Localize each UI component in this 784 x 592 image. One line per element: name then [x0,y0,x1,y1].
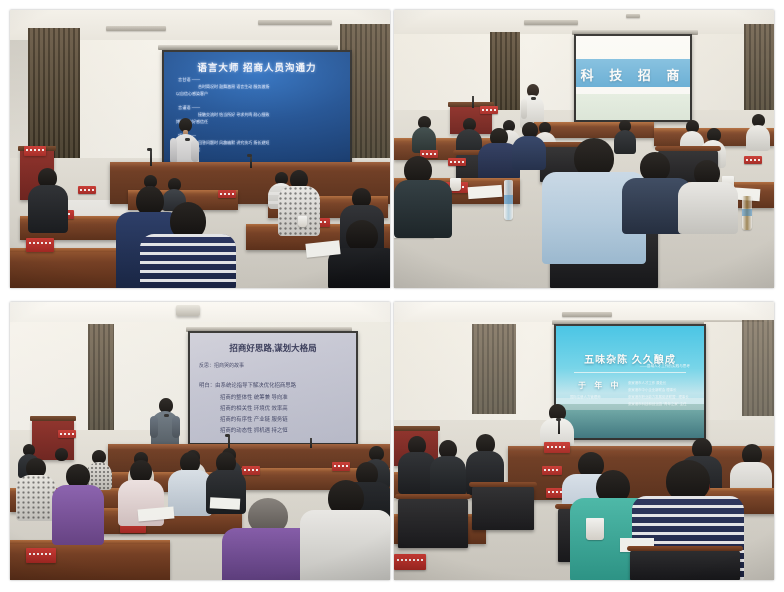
projection-screen-surface: 科 技 招 商 [576,36,690,120]
projection-screen: 招商好思路,谋划大格局 反思：招商哭的故事 明白：由系统论指导下解决优化招商思路… [188,331,358,445]
slide-footer-band [576,94,690,120]
photo-grid: 语言大师 招商人员沟通力 言甘语 —— 合时简况时 鼓舞激昂 语言生动 服务激扬… [10,10,774,580]
audience-member [746,114,770,148]
name-placard [744,156,762,164]
slide-title: 语言大师 招商人员沟通力 [164,60,350,74]
audience-member [430,440,466,492]
slide-line: 招商的相关性 环境优 效率高 [220,404,288,412]
handout-paper [210,497,241,510]
projector [176,305,200,316]
slide-line: 以自信心感染客户 [176,91,208,97]
slide-line: 招商的动态性 抓机遇 持之恒 [220,426,288,434]
microphone-icon [531,97,536,100]
chair [472,486,534,530]
audience-member [678,160,738,232]
audience-member [512,122,546,168]
slide-divider [574,372,686,373]
slide-title: 科 技 招 商 [576,65,690,84]
audience-member [28,168,68,230]
window-curtain [742,320,774,416]
projection-screen: 五味杂陈 久久酿成 ——县域人才工作的实践与思考 于 年 中 国际注册人力管理师… [554,324,706,440]
projection-screen-surface: 五味杂陈 久久酿成 ——县域人才工作的实践与思考 于 年 中 国际注册人力管理师… [556,326,704,438]
ceiling-speaker-icon [626,14,640,18]
audience-member [16,458,56,518]
slide-line: 合时简况时 鼓舞激昂 语言生动 服务激扬 [198,84,269,90]
presenter-arm [521,99,527,119]
name-placard [218,190,236,198]
audience-member [412,116,436,150]
window-curtain [88,324,114,434]
slide-line: 言谨语 —— [178,105,200,111]
audience-member [52,464,104,542]
name-placard [24,146,46,156]
audience-member-foreground [300,480,390,580]
chair [398,498,468,548]
photo-bottom-right[interactable]: 五味杂陈 久久酿成 ——县域人才工作的实践与思考 于 年 中 国际注册人力管理师… [394,302,774,580]
name-placard [78,186,96,194]
presenter-arm [150,416,158,438]
microphone-icon [147,148,152,151]
presenter-arm [191,140,199,162]
name-placard [394,554,426,570]
audience-member [394,156,452,236]
slide-credential: 张家港市科技和创业园 "青年之家" 主任 [628,401,687,406]
photo-top-right[interactable]: 科 技 招 商 [394,10,774,288]
microphone-icon [556,418,561,421]
head-table-top [108,444,390,449]
name-placard [26,548,56,563]
presenter-arm [172,416,180,438]
microphone-stand [472,96,474,108]
projection-screen: 科 技 招 商 [574,34,692,122]
slide-line: 言甘语 —— [178,77,200,83]
photo-top-left[interactable]: 语言大师 招商人员沟通力 言甘语 —— 合时简况时 鼓舞激昂 语言生动 服务激扬… [10,10,390,288]
photo-collage: 语言大师 招商人员沟通力 言甘语 —— 合时简况时 鼓舞激昂 语言生动 服务激扬… [0,0,784,592]
microphone-icon [225,434,230,437]
slide-line: 明白：由系统论指导下解决优化招商思路 [199,381,296,389]
window-curtain [472,324,516,414]
slide-line: 接触交流时 恰当所好 寻求共鸣 耐心细致 [198,112,269,118]
slide-credential: 张家港市中小企业新联会 理事长 [628,387,676,392]
photo-bottom-left[interactable]: 招商好思路,谋划大格局 反思：招商哭的故事 明白：由系统论指导下解决优化招商思路… [10,302,390,580]
microphone-stand [558,420,560,434]
projection-screen-surface: 招商好思路,谋划大格局 反思：招商哭的故事 明白：由系统论指导下解决优化招商思路… [190,333,356,443]
audience-member-foreground [140,202,236,288]
microphone-stand [150,150,152,166]
presenter-arm [170,138,177,164]
name-placard [480,106,498,114]
slide-line: 反思：招商哭的故事 [199,362,244,369]
water-bottle [504,180,513,220]
ceiling-vent-icon [258,20,332,25]
ceiling-vent-icon [524,20,578,25]
podium-top [30,416,76,421]
slide-title: 招商好思路,谋划大格局 [190,342,356,354]
microphone-icon [164,414,169,417]
slide-credential: 张家港市人才工作 原处长 [628,380,666,385]
name-placard [58,430,76,438]
microphone-icon [185,138,190,141]
paper-cup [298,216,307,227]
slide-credential: 张家港市职业能力发展促进联盟 · 理事长 [628,394,689,399]
notebook [468,185,503,199]
ceiling-vent-icon [106,26,166,31]
microphone-stand [250,156,252,168]
slide-line: 招商的整体性 统筹兼 导向准 [220,393,288,401]
slide-line: 回答问题时 风趣幽默 讲究技巧 扬长避短 [198,140,269,146]
microphone-icon [247,154,252,157]
paper-cup [586,518,604,540]
water-bottle [742,196,752,230]
name-placard [26,238,54,252]
microphone-stand [228,436,230,448]
slide-line: 招商的有序性 产业链 服务链 [220,415,288,423]
name-placard [542,466,562,475]
podium-top [394,426,440,431]
slide-presenter-name: 于 年 中 [578,380,621,391]
slide-presenter-affiliation: 国际注册人力管理师 [570,394,601,399]
slide-subtitle: ——县域人才工作的实践与思考 [640,364,690,369]
chair [630,550,740,580]
ceiling-vent-icon [562,312,612,317]
microphone-stand [310,438,312,448]
